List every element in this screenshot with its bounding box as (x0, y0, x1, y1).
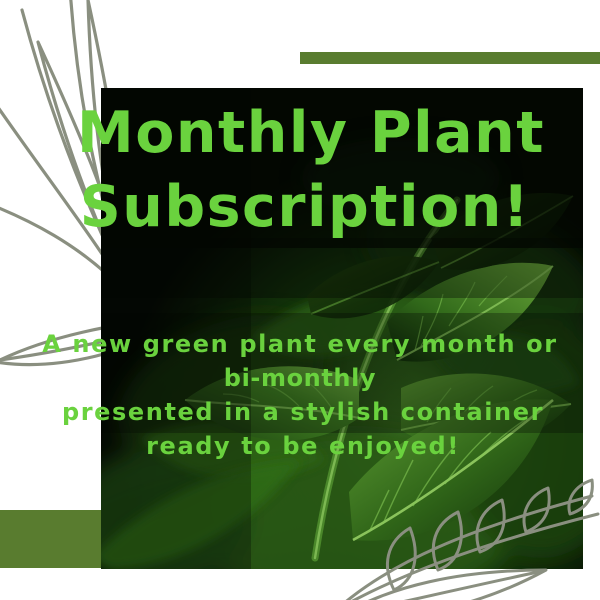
headline: Monthly Plant Subscription! (0, 96, 600, 244)
body-line-4: ready to be enjoyed! (0, 429, 600, 463)
body-copy: A new green plant every month or bi-mont… (0, 327, 600, 463)
body-line-3: presented in a stylish container (0, 395, 600, 429)
headline-line-2: Subscription! (0, 170, 600, 244)
body-line-1: A new green plant every month or (0, 327, 600, 361)
top-accent-bar (300, 52, 600, 64)
headline-line-1: Monthly Plant (0, 96, 600, 170)
poster-canvas: Monthly Plant Subscription! A new green … (0, 0, 600, 600)
body-line-2: bi-monthly (0, 361, 600, 395)
